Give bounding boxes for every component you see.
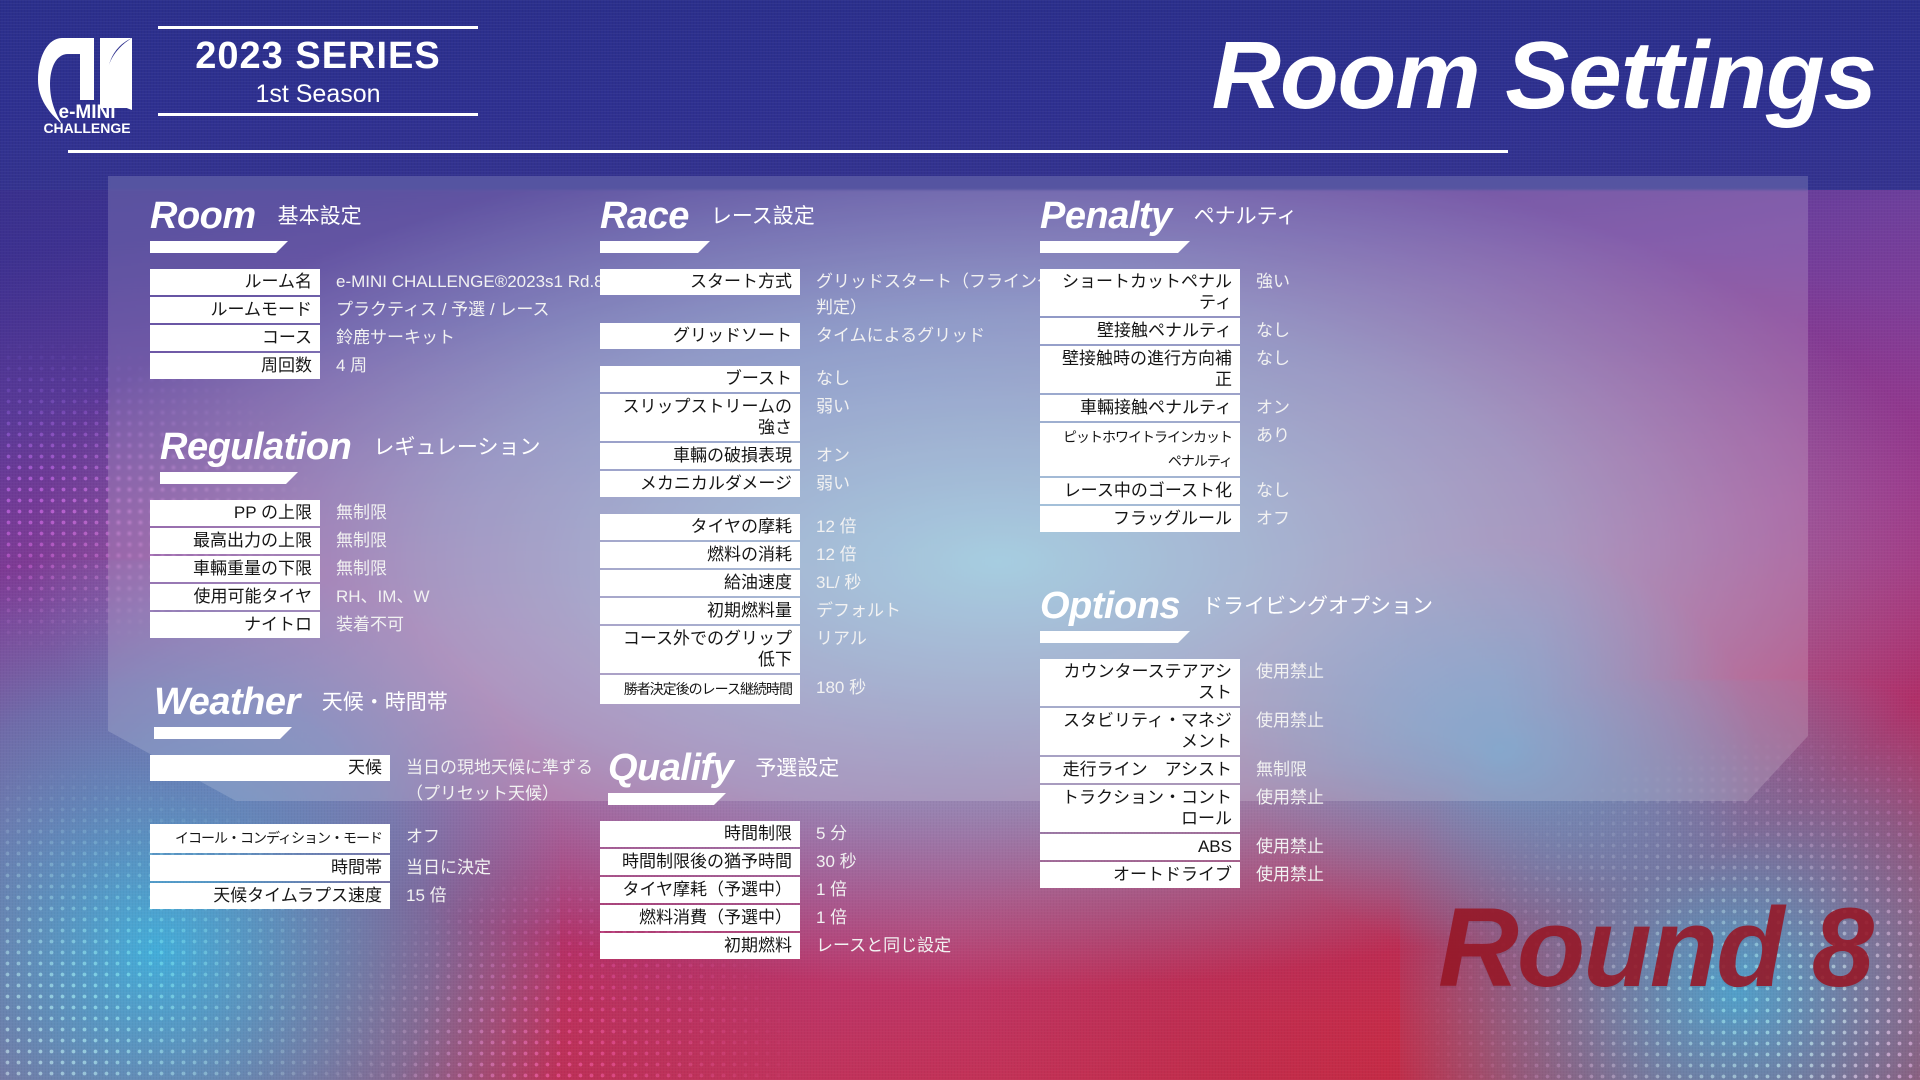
row-label: 燃料消費（予選中） bbox=[600, 905, 800, 931]
row-value: 無制限 bbox=[320, 556, 387, 582]
row-value: なし bbox=[1240, 318, 1290, 344]
section-regulation-rows: PP の上限 無制限 最高出力の上限 無制限 車輛重量の下限 無制限 使用可能タ… bbox=[150, 500, 620, 638]
row-label: 給油速度 bbox=[600, 570, 800, 596]
section-regulation-title-ja: レギュレーション bbox=[373, 431, 540, 467]
section-penalty-header: Penalty ペナルティ bbox=[1040, 196, 1510, 236]
table-row[interactable]: イコール・コンディション・モード オフ bbox=[150, 824, 620, 853]
row-label: 車輛接触ペナルティ bbox=[1040, 395, 1240, 421]
section-qualify-title-en: Qualify bbox=[608, 748, 733, 788]
row-value: 無制限 bbox=[320, 500, 387, 526]
section-regulation-underline bbox=[160, 472, 298, 484]
row-label: タイヤの摩耗 bbox=[600, 514, 800, 540]
section-weather: Weather 天候・時間帯 天候 当日の現地天候に準ずる （プリセット天候） … bbox=[154, 682, 620, 909]
row-label: ショートカットペナルティ bbox=[1040, 269, 1240, 316]
row-label: PP の上限 bbox=[150, 500, 320, 526]
row-value: 12 倍 bbox=[800, 542, 857, 568]
section-race-rows-consumption: タイヤの摩耗 12 倍 燃料の消耗 12 倍 給油速度 3L/ 秒 初期燃料量 … bbox=[600, 514, 1060, 704]
row-label: 初期燃料 bbox=[600, 933, 800, 959]
table-row[interactable]: ナイトロ 装着不可 bbox=[150, 612, 620, 638]
row-label: スタート方式 bbox=[600, 269, 800, 295]
row-label: 時間帯 bbox=[150, 855, 390, 881]
table-row[interactable]: ショートカットペナルティ 強い bbox=[1040, 269, 1510, 316]
section-race-title-ja: レース設定 bbox=[711, 200, 815, 236]
section-weather-title-ja: 天候・時間帯 bbox=[322, 686, 448, 722]
section-regulation-header: Regulation レギュレーション bbox=[160, 427, 620, 467]
table-row[interactable]: スタート方式 グリッドスタート（フライング判定） bbox=[600, 269, 1060, 321]
section-weather-header: Weather 天候・時間帯 bbox=[154, 682, 620, 722]
row-label: 時間制限後の猶予時間 bbox=[600, 849, 800, 875]
row-label: 天候タイムラプス速度 bbox=[150, 883, 390, 909]
section-room-header: Room 基本設定 bbox=[150, 196, 620, 236]
table-row[interactable]: ルーム名 e-MINI CHALLENGE®2023s1 Rd.8 bbox=[150, 269, 620, 295]
section-regulation-title-en: Regulation bbox=[160, 427, 351, 467]
table-row[interactable]: ルームモード プラクティス / 予選 / レース bbox=[150, 297, 620, 323]
table-row[interactable]: 給油速度 3L/ 秒 bbox=[600, 570, 1060, 596]
table-row[interactable]: ピットホワイトラインカット ペナルティ あり bbox=[1040, 423, 1510, 476]
row-value: 15 倍 bbox=[390, 883, 447, 909]
table-row[interactable]: 使用可能タイヤ RH、IM、W bbox=[150, 584, 620, 610]
table-row[interactable]: 時間制限 5 分 bbox=[600, 821, 1060, 847]
row-label: ルームモード bbox=[150, 297, 320, 323]
row-label: 走行ライン アシスト bbox=[1040, 757, 1240, 783]
page-title: Room Settings bbox=[1212, 20, 1876, 132]
row-value: 12 倍 bbox=[800, 514, 857, 540]
row-label: 初期燃料量 bbox=[600, 598, 800, 624]
series-block: 2023 SERIES 1st Season bbox=[158, 26, 478, 116]
row-label: 車輛重量の下限 bbox=[150, 556, 320, 582]
row-label: 天候 bbox=[150, 755, 390, 781]
table-row[interactable]: 周回数 4 周 bbox=[150, 353, 620, 379]
series-rule-bottom bbox=[158, 113, 478, 116]
settings-column-left: Room 基本設定 ルーム名 e-MINI CHALLENGE®2023s1 R… bbox=[150, 196, 620, 911]
table-row[interactable]: 初期燃料 レースと同じ設定 bbox=[600, 933, 1060, 959]
row-label: 時間制限 bbox=[600, 821, 800, 847]
table-row[interactable]: 走行ライン アシスト 無制限 bbox=[1040, 757, 1510, 783]
section-regulation: Regulation レギュレーション PP の上限 無制限 最高出力の上限 無… bbox=[160, 427, 620, 638]
row-label: 車輛の破損表現 bbox=[600, 443, 800, 469]
row-label: 壁接触時の進行方向補正 bbox=[1040, 346, 1240, 393]
row-label: トラクション・コントロール bbox=[1040, 785, 1240, 832]
table-row[interactable]: ABS 使用禁止 bbox=[1040, 834, 1510, 860]
section-weather-title-en: Weather bbox=[154, 682, 300, 722]
row-value: 装着不可 bbox=[320, 612, 404, 638]
row-label: 燃料の消耗 bbox=[600, 542, 800, 568]
section-options-title-en: Options bbox=[1040, 586, 1180, 626]
row-value: 使用禁止 bbox=[1240, 785, 1324, 811]
svg-text:CHALLENGE: CHALLENGE bbox=[43, 120, 130, 136]
row-label: 勝者決定後のレース継続時間 bbox=[600, 675, 800, 704]
table-row[interactable]: 車輛重量の下限 無制限 bbox=[150, 556, 620, 582]
row-value: 3L/ 秒 bbox=[800, 570, 861, 596]
row-value: e-MINI CHALLENGE®2023s1 Rd.8 bbox=[320, 269, 604, 295]
row-value: デフォルト bbox=[800, 598, 901, 624]
table-row[interactable]: ブースト なし bbox=[600, 366, 1060, 392]
table-row[interactable]: 天候 当日の現地天候に準ずる （プリセット天候） bbox=[150, 755, 620, 807]
row-label: フラッグルール bbox=[1040, 506, 1240, 532]
row-value: 4 周 bbox=[320, 353, 367, 379]
row-value: 無制限 bbox=[320, 528, 387, 554]
section-weather-underline bbox=[154, 727, 292, 739]
row-label: コース bbox=[150, 325, 320, 351]
section-penalty: Penalty ペナルティ ショートカットペナルティ 強い 壁接触ペナルティ な… bbox=[1040, 196, 1510, 532]
table-row[interactable]: トラクション・コントロール 使用禁止 bbox=[1040, 785, 1510, 832]
row-value: 使用禁止 bbox=[1240, 708, 1324, 734]
row-label: ピットホワイトラインカット ペナルティ bbox=[1040, 423, 1240, 476]
section-qualify-rows: 時間制限 5 分 時間制限後の猶予時間 30 秒 タイヤ摩耗（予選中） 1 倍 … bbox=[600, 821, 1060, 959]
row-value: オフ bbox=[1240, 506, 1290, 532]
section-race-rows-start: スタート方式 グリッドスタート（フライング判定） グリッドソート タイムによるグ… bbox=[600, 269, 1060, 349]
row-value: あり bbox=[1240, 423, 1290, 449]
table-row[interactable]: グリッドソート タイムによるグリッド bbox=[600, 323, 1060, 349]
section-options: Options ドライビングオプション カウンターステアアシスト 使用禁止 スタ… bbox=[1040, 586, 1510, 888]
row-value: オン bbox=[800, 443, 850, 469]
row-label: オートドライブ bbox=[1040, 862, 1240, 888]
row-label: ブースト bbox=[600, 366, 800, 392]
row-value: 30 秒 bbox=[800, 849, 857, 875]
series-rule-top bbox=[158, 26, 478, 29]
row-label: カウンターステアアシスト bbox=[1040, 659, 1240, 706]
section-weather-rows-a: 天候 当日の現地天候に準ずる （プリセット天候） bbox=[150, 755, 620, 807]
table-row[interactable]: スリップストリームの強さ 弱い bbox=[600, 394, 1060, 441]
row-value: なし bbox=[1240, 478, 1290, 504]
table-row[interactable]: フラッグルール オフ bbox=[1040, 506, 1510, 532]
row-label: コース外でのグリップ低下 bbox=[600, 626, 800, 673]
row-value: 弱い bbox=[800, 471, 850, 497]
row-value: オフ bbox=[390, 824, 440, 850]
table-row[interactable]: 初期燃料量 デフォルト bbox=[600, 598, 1060, 624]
row-value: 無制限 bbox=[1240, 757, 1307, 783]
row-label: ナイトロ bbox=[150, 612, 320, 638]
row-value: 当日の現地天候に準ずる （プリセット天候） bbox=[390, 755, 593, 807]
row-value: 180 秒 bbox=[800, 675, 866, 701]
row-value: 使用禁止 bbox=[1240, 862, 1324, 888]
row-label: ルーム名 bbox=[150, 269, 320, 295]
row-value: RH、IM、W bbox=[320, 584, 429, 610]
row-value: 弱い bbox=[800, 394, 850, 420]
row-label: スタビリティ・マネジメント bbox=[1040, 708, 1240, 755]
table-row[interactable]: コース外でのグリップ低下 リアル bbox=[600, 626, 1060, 673]
section-room-title-ja: 基本設定 bbox=[278, 200, 362, 236]
section-options-rows: カウンターステアアシスト 使用禁止 スタビリティ・マネジメント 使用禁止 走行ラ… bbox=[1040, 659, 1510, 888]
row-label: メカニカルダメージ bbox=[600, 471, 800, 497]
row-label: 周回数 bbox=[150, 353, 320, 379]
row-value: 当日に決定 bbox=[390, 855, 491, 881]
table-row[interactable]: 壁接触時の進行方向補正 なし bbox=[1040, 346, 1510, 393]
table-row[interactable]: 時間帯 当日に決定 bbox=[150, 855, 620, 881]
section-room: Room 基本設定 ルーム名 e-MINI CHALLENGE®2023s1 R… bbox=[150, 196, 620, 379]
row-value: オン bbox=[1240, 395, 1290, 421]
row-value: 1 倍 bbox=[800, 905, 847, 931]
table-row[interactable]: スタビリティ・マネジメント 使用禁止 bbox=[1040, 708, 1510, 755]
table-row[interactable]: タイヤ摩耗（予選中） 1 倍 bbox=[600, 877, 1060, 903]
table-row[interactable]: タイヤの摩耗 12 倍 bbox=[600, 514, 1060, 540]
row-value: グリッドスタート（フライング判定） bbox=[800, 269, 1060, 321]
section-race: Race レース設定 スタート方式 グリッドスタート（フライング判定） グリッド… bbox=[600, 196, 1060, 704]
section-penalty-rows: ショートカットペナルティ 強い 壁接触ペナルティ なし 壁接触時の進行方向補正 … bbox=[1040, 269, 1510, 532]
section-qualify: Qualify 予選設定 時間制限 5 分 時間制限後の猶予時間 30 秒 タイ… bbox=[608, 748, 1060, 959]
section-qualify-title-ja: 予選設定 bbox=[755, 752, 839, 788]
table-row[interactable]: カウンターステアアシスト 使用禁止 bbox=[1040, 659, 1510, 706]
row-value: レースと同じ設定 bbox=[800, 933, 951, 959]
section-qualify-underline bbox=[608, 793, 726, 805]
settings-column-right: Penalty ペナルティ ショートカットペナルティ 強い 壁接触ペナルティ な… bbox=[1040, 196, 1510, 890]
section-penalty-underline bbox=[1040, 241, 1190, 253]
section-penalty-title-en: Penalty bbox=[1040, 196, 1172, 236]
row-value: リアル bbox=[800, 626, 867, 652]
section-room-title-en: Room bbox=[150, 196, 256, 236]
row-value: 使用禁止 bbox=[1240, 659, 1324, 685]
table-row[interactable]: 燃料消費（予選中） 1 倍 bbox=[600, 905, 1060, 931]
section-race-underline bbox=[600, 241, 710, 253]
section-options-header: Options ドライビングオプション bbox=[1040, 586, 1510, 626]
section-options-underline bbox=[1040, 631, 1190, 643]
series-year: 2023 SERIES bbox=[158, 33, 478, 79]
section-options-title-ja: ドライビングオプション bbox=[1202, 590, 1433, 626]
table-row[interactable]: 時間制限後の猶予時間 30 秒 bbox=[600, 849, 1060, 875]
section-qualify-header: Qualify 予選設定 bbox=[608, 748, 1060, 788]
section-race-rows-physics: ブースト なし スリップストリームの強さ 弱い 車輛の破損表現 オン メカニカル… bbox=[600, 366, 1060, 497]
row-value: タイムによるグリッド bbox=[800, 323, 985, 349]
row-value: なし bbox=[1240, 346, 1290, 372]
table-row[interactable]: PP の上限 無制限 bbox=[150, 500, 620, 526]
round-number-watermark: Round 8 bbox=[1438, 892, 1872, 1004]
row-label: 最高出力の上限 bbox=[150, 528, 320, 554]
row-label: 壁接触ペナルティ bbox=[1040, 318, 1240, 344]
table-row[interactable]: コース 鈴鹿サーキット bbox=[150, 325, 620, 351]
section-race-header: Race レース設定 bbox=[600, 196, 1060, 236]
row-label: タイヤ摩耗（予選中） bbox=[600, 877, 800, 903]
row-value: プラクティス / 予選 / レース bbox=[320, 297, 549, 323]
section-room-rows: ルーム名 e-MINI CHALLENGE®2023s1 Rd.8 ルームモード… bbox=[150, 269, 620, 379]
table-row[interactable]: メカニカルダメージ 弱い bbox=[600, 471, 1060, 497]
settings-column-middle: Race レース設定 スタート方式 グリッドスタート（フライング判定） グリッド… bbox=[600, 196, 1060, 961]
row-value: なし bbox=[800, 366, 850, 392]
table-row[interactable]: 車輛接触ペナルティ オン bbox=[1040, 395, 1510, 421]
section-penalty-title-ja: ペナルティ bbox=[1194, 200, 1298, 236]
row-label: レース中のゴースト化 bbox=[1040, 478, 1240, 504]
row-value: 使用禁止 bbox=[1240, 834, 1324, 860]
table-row[interactable]: 燃料の消耗 12 倍 bbox=[600, 542, 1060, 568]
section-race-title-en: Race bbox=[600, 196, 689, 236]
series-season: 1st Season bbox=[158, 79, 478, 109]
row-value: 1 倍 bbox=[800, 877, 847, 903]
table-row[interactable]: 壁接触ペナルティ なし bbox=[1040, 318, 1510, 344]
row-value: 強い bbox=[1240, 269, 1290, 295]
row-label: イコール・コンディション・モード bbox=[150, 824, 390, 853]
table-row[interactable]: 天候タイムラプス速度 15 倍 bbox=[150, 883, 620, 909]
section-room-underline bbox=[150, 241, 288, 253]
table-row[interactable]: 車輛の破損表現 オン bbox=[600, 443, 1060, 469]
table-row[interactable]: レース中のゴースト化 なし bbox=[1040, 478, 1510, 504]
e-mini-challenge-logo-icon: e-MINI CHALLENGE bbox=[32, 28, 142, 138]
row-value: 5 分 bbox=[800, 821, 847, 847]
row-label: スリップストリームの強さ bbox=[600, 394, 800, 441]
header-divider-rule bbox=[68, 150, 1508, 153]
table-row[interactable]: 最高出力の上限 無制限 bbox=[150, 528, 620, 554]
row-value: 鈴鹿サーキット bbox=[320, 325, 455, 351]
row-label: ABS bbox=[1040, 834, 1240, 860]
section-weather-rows-b: イコール・コンディション・モード オフ 時間帯 当日に決定 天候タイムラプス速度… bbox=[150, 824, 620, 909]
row-label: グリッドソート bbox=[600, 323, 800, 349]
table-row[interactable]: 勝者決定後のレース継続時間 180 秒 bbox=[600, 675, 1060, 704]
row-label: 使用可能タイヤ bbox=[150, 584, 320, 610]
